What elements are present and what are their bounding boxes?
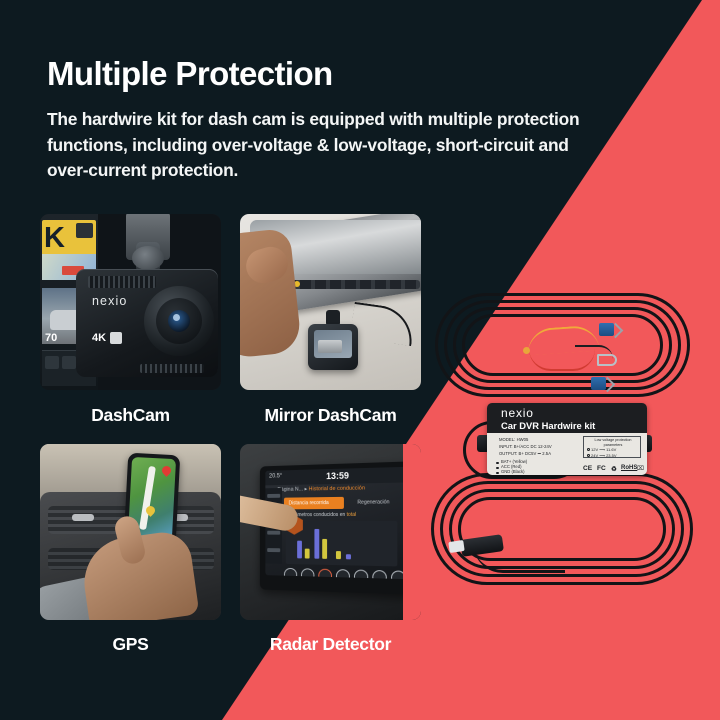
dashcam-vents	[88, 276, 156, 288]
low-voltage-parameter-box: Low voltage protection parameters 12V ⟶ …	[583, 436, 641, 458]
chart-bar	[322, 539, 327, 559]
caption-radar-detector: Radar Detector	[240, 634, 421, 655]
ring-terminal	[597, 354, 617, 366]
caption-dashcam: DashCam	[40, 405, 221, 426]
retail-box-chip	[76, 223, 93, 238]
weee-bin-icon: ⌧	[637, 465, 644, 472]
dashcam-lens-glass	[168, 310, 190, 332]
screen-breadcrumb: Página N... ▸ Historial de conducción	[277, 485, 365, 493]
retail-box-button	[45, 356, 59, 369]
dashcam-screen-preview	[318, 340, 342, 353]
chart-bar	[346, 554, 351, 559]
retail-box-letter: K	[44, 224, 65, 253]
legend-ground: GND (Black)	[501, 469, 525, 474]
caption-mirror-dashcam: Mirror DashCam	[240, 405, 421, 426]
wire-junction	[523, 347, 530, 354]
product-title: Car DVR Hardwire kit	[501, 420, 595, 431]
chart-bar	[305, 549, 310, 559]
fuse-tap-connector	[599, 323, 614, 336]
breadcrumb-active: Historial de conducción	[309, 485, 365, 492]
recycle-icon: ♻	[611, 465, 617, 473]
chart-caption: Kilómetros conducidos en total	[290, 512, 357, 518]
chart-bar	[297, 541, 302, 559]
product-label: nexio Car DVR Hardwire kit MODEL: HW05 I…	[487, 403, 647, 475]
voltage-option-24v: 24V ⟶ 23.5V	[591, 453, 617, 458]
chart-bar	[336, 551, 341, 559]
retail-box-speed-readout: 70	[45, 332, 57, 344]
screen-clock: 13:59	[326, 471, 349, 482]
dashcam-brand-logo: nexio	[92, 294, 127, 308]
voltage-option-12v: 12V ⟶ 11.6V	[591, 447, 616, 452]
dashcam-speaker-grille	[140, 364, 204, 373]
chart-bar	[314, 529, 319, 559]
usb-connector-tip	[448, 540, 464, 553]
screen-nav-icon[interactable]	[372, 570, 387, 579]
page-title: Multiple Protection	[47, 57, 333, 92]
chart-caption-prefix: Kilómetros conducidos en	[290, 512, 347, 518]
screen-temperature: 20.5°	[269, 473, 282, 479]
mount-swivel-knob	[132, 246, 164, 270]
photo-tile-mirror-dashcam	[240, 214, 421, 390]
caption-gps: GPS	[40, 634, 221, 655]
primary-button-label: Distancia recorrida	[289, 500, 329, 506]
retail-box-button	[62, 356, 76, 369]
dashcam-resolution-badge: 4K	[92, 332, 106, 344]
side-menu-item[interactable]	[267, 548, 280, 552]
screen-secondary-button[interactable]: Regeneración	[350, 496, 397, 509]
red-background-edge	[403, 444, 421, 620]
dashcam-lens-highlight	[173, 314, 180, 321]
breadcrumb-prefix: Página N... ▸	[277, 486, 308, 492]
photo-tile-gps	[40, 444, 221, 620]
ce-mark: CE	[583, 465, 592, 472]
voltage-box-title: Low voltage protection parameters	[587, 438, 639, 447]
side-menu-item[interactable]	[267, 494, 280, 498]
side-menu-item[interactable]	[267, 531, 280, 535]
fcc-mark: FC	[597, 465, 606, 472]
spec-input: INPUT: B+/ACC DC 12-24V	[499, 444, 552, 449]
rohs-mark: RoHS	[621, 465, 637, 471]
photo-tile-radar-detector: 20.5° 13:59 Página N... ▸ Historial de c…	[240, 444, 421, 620]
product-brand-logo: nexio	[501, 406, 534, 420]
product-photo-hardwire-kit: nexio Car DVR Hardwire kit MODEL: HW05 I…	[425, 285, 710, 595]
fuse-tap-connector	[591, 377, 606, 390]
spec-output: OUTPUT: B+ DC5V ⎓ 2.5A	[499, 451, 551, 456]
spec-model: MODEL: HW05	[499, 437, 528, 442]
chart-caption-active: total	[347, 512, 357, 518]
vent-tab	[72, 514, 94, 521]
screen-nav-icon[interactable]	[354, 570, 368, 580]
photo-tile-dashcam: K 70 nexio 4K	[40, 214, 221, 390]
dashcam-badge-icon	[110, 332, 122, 344]
page-description: The hardwire kit for dash cam is equippe…	[47, 107, 607, 184]
